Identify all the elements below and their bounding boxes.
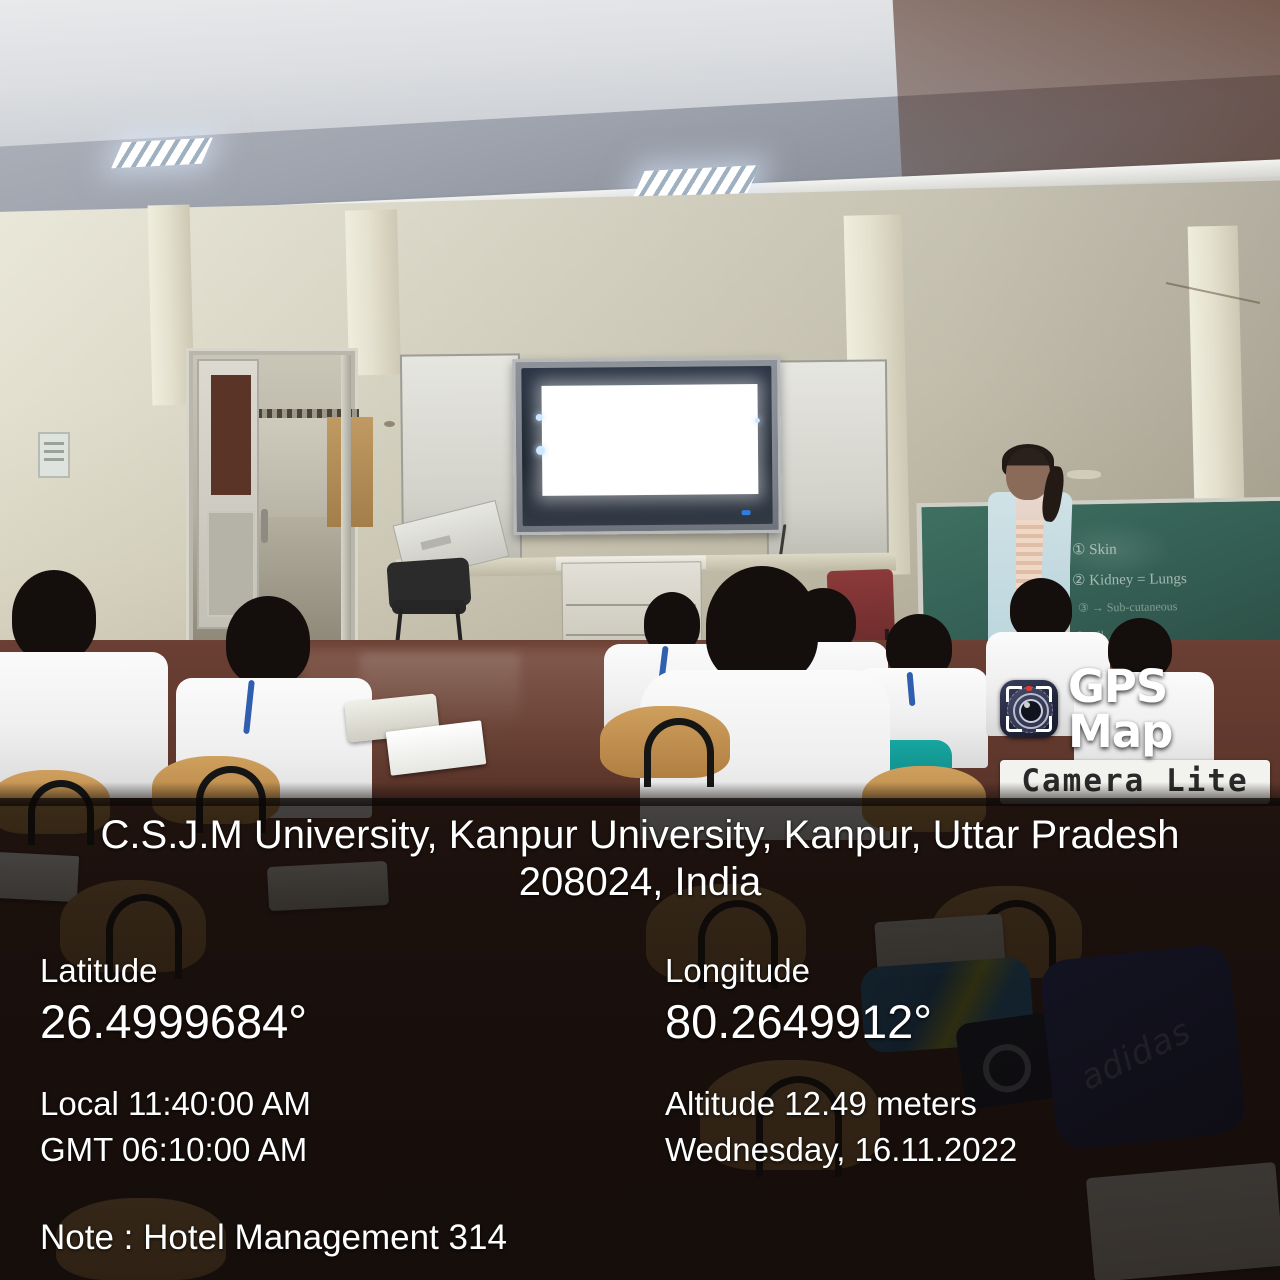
watermark-title: GPS Map: [1068, 664, 1274, 754]
date-value: Wednesday, 16.11.2022: [665, 1127, 1280, 1174]
teacher-dupatta: [988, 492, 1016, 650]
gmt-time: GMT 06:10:00 AM: [40, 1127, 660, 1174]
student-head: [226, 596, 310, 686]
student-head: [12, 570, 96, 662]
latitude-column: Latitude 26.4999684° Local 11:40:00 AM G…: [40, 950, 660, 1174]
local-time: Local 11:40:00 AM: [40, 1081, 660, 1128]
address-line-1: C.S.J.M University, Kanpur University, K…: [54, 812, 1226, 859]
longitude-value: 80.2649912°: [665, 993, 1280, 1050]
smartboard-power-led: [742, 510, 751, 515]
adjacent-room-tiles: [247, 413, 327, 517]
latitude-value: 26.4999684°: [40, 993, 660, 1050]
door-glass-upper: [211, 375, 251, 495]
altitude-value: Altitude 12.49 meters: [665, 1081, 1280, 1128]
gps-info-overlay: C.S.J.M University, Kanpur University, K…: [0, 798, 1280, 1280]
student-head: [706, 566, 818, 684]
chalkboard-line: ② Kidney = Lungs: [1072, 569, 1187, 590]
smartboard-bezel: [521, 366, 772, 526]
longitude-label: Longitude: [665, 950, 1280, 991]
note-text: Note : Hotel Management 314: [40, 1218, 507, 1258]
gps-camera-lens-icon: [1000, 680, 1058, 738]
address-line-2: 208024, India: [54, 859, 1226, 906]
smartboard-indicator: [536, 414, 543, 421]
wall-mark: [1067, 470, 1101, 479]
chalkboard-line: ③ → Sub-cutaneous: [1078, 599, 1178, 616]
smartboard-indicator: [755, 418, 760, 423]
student-head: [1010, 578, 1072, 640]
latitude-label: Latitude: [40, 950, 660, 991]
glass-door: [197, 359, 259, 629]
chalkboard-line: ① Skin: [1072, 540, 1117, 560]
record-dot-icon: [1026, 686, 1032, 691]
door-handle: [261, 509, 268, 543]
wall-mark: [384, 421, 395, 427]
chair-frame: [644, 718, 714, 787]
ceiling-light-icon: [111, 138, 212, 169]
smartboard-screen: [541, 384, 758, 496]
smartboard-indicator: [536, 446, 545, 455]
smartboard: [512, 357, 782, 535]
gps-camera-photo: ① Skin ② Kidney = Lungs ③ → Sub-cutaneou…: [0, 0, 1280, 1280]
longitude-column: Longitude 80.2649912° Altitude 12.49 met…: [665, 950, 1280, 1174]
wall-notice-board: [38, 432, 70, 478]
door-post: [341, 355, 351, 651]
address-block: C.S.J.M University, Kanpur University, K…: [0, 798, 1280, 906]
